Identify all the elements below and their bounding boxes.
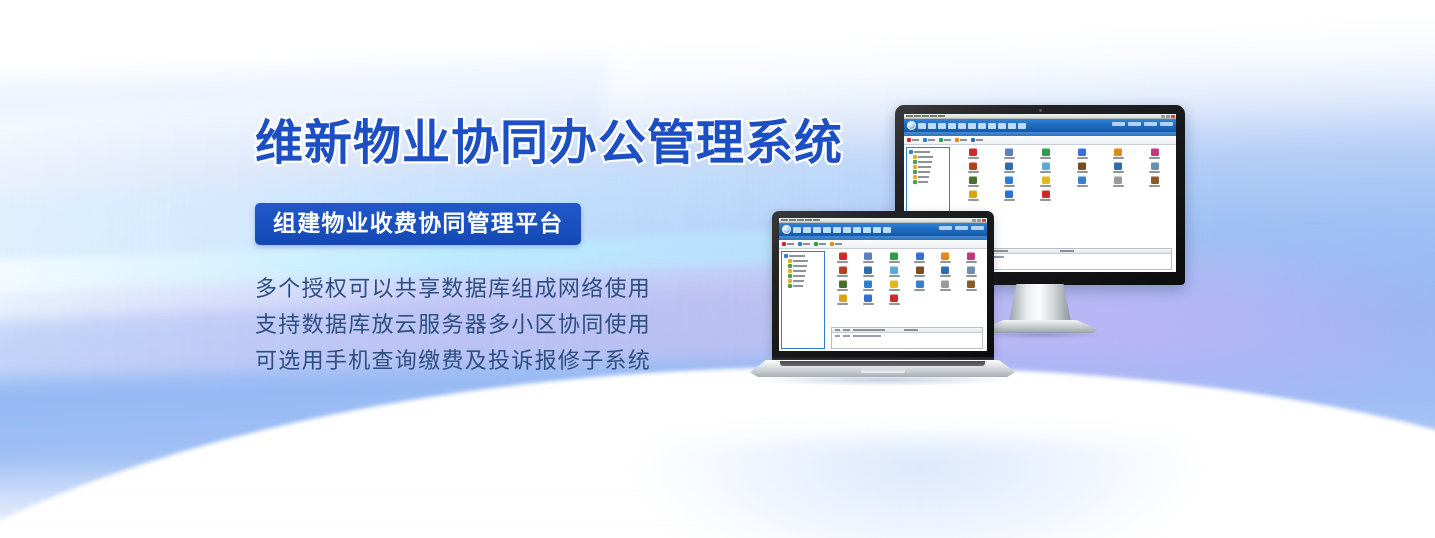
- app-toolbar[interactable]: [779, 240, 987, 249]
- laptop-trackpad: [861, 369, 905, 373]
- module-icon-20[interactable]: [857, 294, 881, 305]
- module-glyph-icon: [1005, 162, 1013, 170]
- module-glyph-icon: [839, 252, 847, 260]
- module-icon-label: [1040, 199, 1051, 201]
- tagline-badge: 组建物业收费协同管理平台: [255, 203, 581, 245]
- tree-node-label: [918, 156, 933, 158]
- tree-node-1[interactable]: [909, 150, 947, 154]
- module-icon-2[interactable]: [857, 252, 881, 263]
- module-icon-4[interactable]: [1065, 148, 1099, 159]
- module-glyph-icon: [967, 252, 975, 260]
- tree-node-7[interactable]: [909, 180, 947, 184]
- module-glyph-icon: [1005, 176, 1013, 184]
- app-toolbar[interactable]: [904, 136, 1176, 145]
- tree-node-label: [793, 260, 808, 262]
- module-icon-label: [914, 261, 925, 263]
- tree-node-label: [789, 255, 805, 257]
- tree-node-3[interactable]: [909, 160, 947, 164]
- module-glyph-icon: [890, 280, 898, 288]
- minimize-icon[interactable]: [1161, 115, 1165, 118]
- module-icon-9[interactable]: [882, 266, 906, 277]
- toolbar-button-3[interactable]: [814, 242, 826, 246]
- maximize-icon[interactable]: [977, 219, 981, 222]
- module-icon-18[interactable]: [959, 280, 983, 291]
- module-icon-label: [1113, 171, 1124, 173]
- app-header-bar: [904, 119, 1176, 132]
- folder-icon: [788, 269, 792, 273]
- window-controls[interactable]: [972, 219, 986, 222]
- module-glyph-icon: [941, 280, 949, 288]
- folder-icon: [788, 274, 792, 278]
- tree-node-5[interactable]: [909, 170, 947, 174]
- module-glyph-icon: [1114, 148, 1122, 156]
- table-header-row: [832, 328, 982, 333]
- module-icon-3[interactable]: [1029, 148, 1063, 159]
- tree-node-label: [793, 270, 806, 272]
- module-glyph-icon: [1151, 176, 1159, 184]
- records-table[interactable]: [831, 327, 983, 349]
- module-icon-11[interactable]: [1101, 162, 1135, 173]
- module-icon-label: [1004, 199, 1015, 201]
- app-header-actions[interactable]: [939, 226, 984, 230]
- module-glyph-icon: [1042, 148, 1050, 156]
- laptop: [750, 211, 1015, 391]
- module-icon-label: [889, 289, 900, 291]
- module-icon-label: [1149, 157, 1160, 159]
- module-icon-3[interactable]: [882, 252, 906, 263]
- tree-node-label: [793, 285, 803, 287]
- module-icon-label: [1004, 185, 1015, 187]
- module-icon-label: [837, 303, 848, 305]
- module-icon-label: [914, 289, 925, 291]
- toolbar-button-4[interactable]: [830, 242, 842, 246]
- module-icon-10[interactable]: [1065, 162, 1099, 173]
- laptop-keyboard: [780, 361, 985, 366]
- module-glyph-icon: [1078, 162, 1086, 170]
- module-icon-label: [863, 275, 874, 277]
- module-icon-7[interactable]: [831, 266, 855, 277]
- module-icon-5[interactable]: [934, 252, 958, 263]
- tree-node-6[interactable]: [909, 175, 947, 179]
- module-icon-label: [889, 261, 900, 263]
- module-icon-16[interactable]: [908, 280, 932, 291]
- tree-node-label: [918, 166, 931, 168]
- module-icon-label: [889, 303, 900, 305]
- folder-icon: [913, 160, 917, 164]
- tree-node-label: [793, 280, 804, 282]
- toolbar-button-1[interactable]: [782, 242, 794, 246]
- module-icon-label: [1004, 171, 1015, 173]
- app-logo-icon: [782, 225, 791, 234]
- module-glyph-icon: [1042, 190, 1050, 198]
- module-icon-label: [863, 261, 874, 263]
- titlebar-menu-glyphs: [906, 115, 945, 117]
- module-icon-13[interactable]: [956, 176, 990, 187]
- module-glyph-icon: [1005, 190, 1013, 198]
- webcam-icon: [1039, 109, 1042, 112]
- module-glyph-icon: [1151, 148, 1159, 156]
- module-glyph-icon: [1042, 162, 1050, 170]
- module-glyph-icon: [969, 162, 977, 170]
- module-icon-label: [1077, 171, 1088, 173]
- module-icon-14[interactable]: [992, 176, 1026, 187]
- module-icon-19[interactable]: [956, 190, 990, 201]
- tree-node-2[interactable]: [909, 155, 947, 159]
- tree-node-label: [793, 275, 805, 277]
- window-controls[interactable]: [1161, 115, 1175, 118]
- module-glyph-icon: [1114, 176, 1122, 184]
- module-icon-label: [1040, 185, 1051, 187]
- module-icon-15[interactable]: [1029, 176, 1063, 187]
- folder-icon: [788, 284, 792, 288]
- module-glyph-icon: [916, 280, 924, 288]
- tree-node-4[interactable]: [784, 269, 822, 273]
- module-icon-label: [837, 275, 848, 277]
- module-icon-10[interactable]: [908, 266, 932, 277]
- tree-node-5[interactable]: [784, 274, 822, 278]
- module-icon-label: [968, 199, 979, 201]
- module-icon-19[interactable]: [831, 294, 855, 305]
- module-icon-15[interactable]: [882, 280, 906, 291]
- module-icon-grid[interactable]: [831, 252, 983, 325]
- module-icon-5[interactable]: [1101, 148, 1135, 159]
- app-header-bar: [779, 223, 987, 236]
- folder-icon: [909, 150, 913, 154]
- module-icon-label: [1040, 157, 1051, 159]
- folder-icon: [913, 155, 917, 159]
- app-logo-icon: [907, 121, 916, 130]
- toolbar-button-1[interactable]: [907, 138, 919, 142]
- toolbar-button-2[interactable]: [798, 242, 810, 246]
- module-icon-6[interactable]: [959, 252, 983, 263]
- module-glyph-icon: [890, 294, 898, 302]
- module-icon-label: [1040, 171, 1051, 173]
- close-icon[interactable]: [1171, 115, 1175, 118]
- app-menu[interactable]: [918, 123, 1026, 129]
- module-icon-label: [914, 275, 925, 277]
- module-icon-label: [863, 289, 874, 291]
- app-menu[interactable]: [793, 227, 891, 233]
- module-icon-1[interactable]: [831, 252, 855, 263]
- maximize-icon[interactable]: [1166, 115, 1170, 118]
- module-icon-label: [1149, 185, 1160, 187]
- folder-icon: [913, 180, 917, 184]
- module-glyph-icon: [864, 266, 872, 274]
- folder-icon: [913, 170, 917, 174]
- module-icon-label: [940, 261, 951, 263]
- module-glyph-icon: [890, 252, 898, 260]
- navigation-tree[interactable]: [781, 251, 825, 349]
- module-glyph-icon: [1078, 176, 1086, 184]
- folder-icon: [788, 279, 792, 283]
- module-icon-label: [1004, 157, 1015, 159]
- toolbar-button-4[interactable]: [955, 138, 967, 142]
- module-icon-label: [966, 261, 977, 263]
- device-mockups: [740, 96, 1220, 426]
- module-icon-11[interactable]: [934, 266, 958, 277]
- module-icon-label: [940, 275, 951, 277]
- module-glyph-icon: [1114, 162, 1122, 170]
- module-glyph-icon: [890, 266, 898, 274]
- app-main-panel: [827, 249, 987, 351]
- module-icon-label: [1077, 185, 1088, 187]
- module-icon-8[interactable]: [857, 266, 881, 277]
- module-glyph-icon: [1078, 148, 1086, 156]
- tree-node-2[interactable]: [784, 259, 822, 263]
- module-icon-label: [1077, 157, 1088, 159]
- module-icon-17[interactable]: [1101, 176, 1135, 187]
- module-glyph-icon: [864, 252, 872, 260]
- module-glyph-icon: [916, 252, 924, 260]
- module-glyph-icon: [1005, 148, 1013, 156]
- module-icon-label: [968, 157, 979, 159]
- module-icon-13[interactable]: [831, 280, 855, 291]
- titlebar-menu-glyphs: [781, 219, 820, 221]
- module-icon-label: [889, 275, 900, 277]
- folder-icon: [913, 175, 917, 179]
- tree-node-4[interactable]: [909, 165, 947, 169]
- tree-node-label: [918, 161, 932, 163]
- app-window-laptop: [779, 218, 987, 351]
- toolbar-button-3[interactable]: [939, 138, 951, 142]
- tree-node-6[interactable]: [784, 279, 822, 283]
- module-icon-label: [968, 171, 979, 173]
- folder-icon: [788, 259, 792, 263]
- module-glyph-icon: [941, 266, 949, 274]
- module-icon-label: [1113, 157, 1124, 159]
- tree-node-7[interactable]: [784, 284, 822, 288]
- module-icon-4[interactable]: [908, 252, 932, 263]
- module-icon-label: [863, 303, 874, 305]
- module-icon-2[interactable]: [992, 148, 1026, 159]
- app-subheader-bar: [904, 132, 1176, 136]
- module-icon-label: [968, 185, 979, 187]
- module-glyph-icon: [1151, 162, 1159, 170]
- table-row[interactable]: [832, 333, 982, 338]
- app-subheader-bar: [779, 236, 987, 240]
- monitor-stand-neck: [1009, 284, 1071, 322]
- module-icon-17[interactable]: [934, 280, 958, 291]
- tree-node-3[interactable]: [784, 264, 822, 268]
- laptop-shadow: [756, 377, 1009, 386]
- module-glyph-icon: [839, 294, 847, 302]
- promo-banner: 维新物业协同办公管理系统 组建物业收费协同管理平台 多个授权可以共享数据库组成网…: [0, 0, 1435, 538]
- module-icon-14[interactable]: [857, 280, 881, 291]
- module-icon-21[interactable]: [1029, 190, 1063, 201]
- module-glyph-icon: [969, 148, 977, 156]
- module-glyph-icon: [864, 294, 872, 302]
- module-icon-label: [1149, 171, 1160, 173]
- tree-node-label: [918, 181, 928, 183]
- folder-icon: [784, 254, 788, 258]
- module-icon-12[interactable]: [1138, 162, 1172, 173]
- module-icon-label: [1113, 185, 1124, 187]
- tree-node-label: [914, 151, 930, 153]
- minimize-icon[interactable]: [972, 219, 976, 222]
- tree-node-1[interactable]: [784, 254, 822, 258]
- module-icon-label: [966, 275, 977, 277]
- folder-icon: [788, 264, 792, 268]
- toolbar-button-5[interactable]: [971, 138, 983, 142]
- module-icon-label: [837, 289, 848, 291]
- module-icon-7[interactable]: [956, 162, 990, 173]
- tree-node-label: [918, 176, 929, 178]
- toolbar-button-2[interactable]: [923, 138, 935, 142]
- laptop-lid: [772, 211, 994, 357]
- close-icon[interactable]: [982, 219, 986, 222]
- module-glyph-icon: [941, 252, 949, 260]
- module-glyph-icon: [839, 266, 847, 274]
- module-icon-21[interactable]: [882, 294, 906, 305]
- tree-node-label: [918, 171, 930, 173]
- module-glyph-icon: [967, 266, 975, 274]
- module-glyph-icon: [864, 280, 872, 288]
- module-icon-12[interactable]: [959, 266, 983, 277]
- module-glyph-icon: [969, 176, 977, 184]
- table-header-center-label: [1060, 250, 1074, 252]
- module-icon-label: [966, 289, 977, 291]
- app-header-actions[interactable]: [1112, 122, 1173, 126]
- module-icon-1[interactable]: [956, 148, 990, 159]
- table-header-center-label: [904, 329, 918, 331]
- laptop-screen: [779, 218, 987, 351]
- app-body: [779, 249, 987, 351]
- module-icon-20[interactable]: [992, 190, 1026, 201]
- tree-node-label: [793, 265, 807, 267]
- module-glyph-icon: [1042, 176, 1050, 184]
- module-glyph-icon: [967, 280, 975, 288]
- module-glyph-icon: [839, 280, 847, 288]
- module-glyph-icon: [916, 266, 924, 274]
- module-icon-18[interactable]: [1138, 176, 1172, 187]
- module-icon-6[interactable]: [1138, 148, 1172, 159]
- module-icon-label: [837, 261, 848, 263]
- module-icon-label: [940, 289, 951, 291]
- module-icon-16[interactable]: [1065, 176, 1099, 187]
- module-icon-8[interactable]: [992, 162, 1026, 173]
- module-icon-9[interactable]: [1029, 162, 1063, 173]
- module-glyph-icon: [969, 190, 977, 198]
- folder-icon: [913, 165, 917, 169]
